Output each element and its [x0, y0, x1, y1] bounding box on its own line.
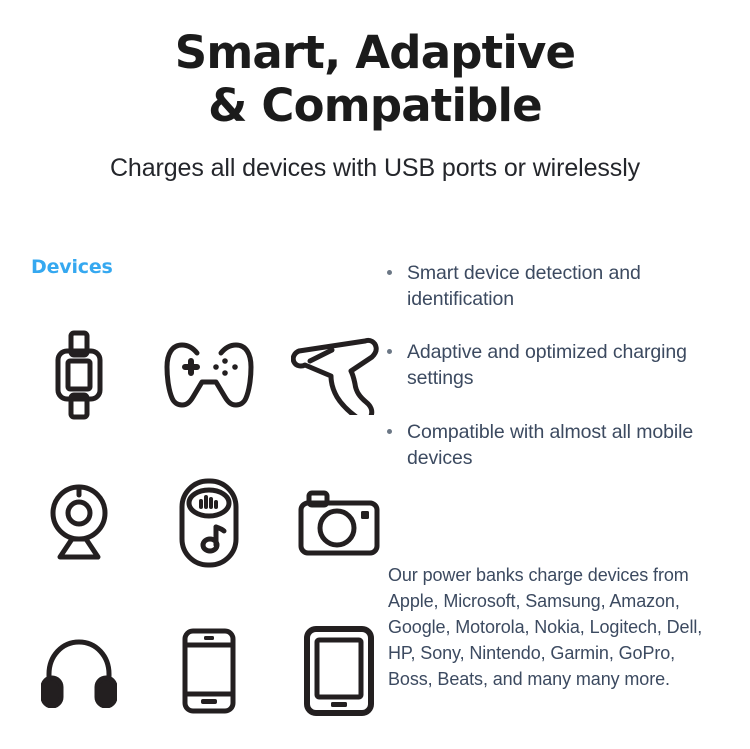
camera-icon [297, 489, 381, 557]
list-item-label: Smart device detection and identificatio… [407, 262, 641, 310]
webcam-icon [44, 483, 114, 563]
game-controller-icon [163, 341, 255, 409]
list-item: Smart device detection and identificatio… [383, 261, 713, 312]
bullet-dot-icon [387, 429, 392, 434]
page-subtitle: Charges all devices with USB ports or wi… [0, 132, 750, 183]
list-item-label: Compatible with almost all mobile device… [407, 421, 693, 469]
list-item: Compatible with almost all mobile device… [383, 420, 713, 471]
device-icon-cell [14, 301, 144, 449]
infographic-page: Smart, Adaptive & Compatible Charges all… [0, 0, 750, 749]
device-icon-cell [144, 597, 274, 745]
smartwatch-icon [51, 329, 107, 421]
tablet-icon [303, 625, 375, 717]
bullet-dot-icon [387, 349, 392, 354]
header-section: Smart, Adaptive & Compatible Charges all… [0, 0, 750, 183]
smart-speaker-icon [177, 477, 241, 569]
device-icon-cell [144, 449, 274, 597]
devices-column: Devices [0, 246, 375, 749]
headline-line-1: Smart, Adaptive [40, 26, 710, 79]
device-icon-cell [14, 449, 144, 597]
smartphone-icon [181, 628, 237, 714]
features-column: Smart device detection and identificatio… [378, 246, 750, 749]
page-title: Smart, Adaptive & Compatible [0, 26, 750, 132]
body-columns: Devices [0, 246, 750, 749]
barcode-scanner-icon [291, 335, 387, 415]
list-item: Adaptive and optimized charging settings [383, 340, 713, 391]
headline-line-2: & Compatible [40, 79, 710, 132]
list-item-label: Adaptive and optimized charging settings [407, 341, 687, 389]
device-icon-grid [14, 301, 374, 745]
feature-bullet-list: Smart device detection and identificatio… [383, 261, 713, 471]
device-icon-cell [14, 597, 144, 745]
bullet-dot-icon [387, 270, 392, 275]
devices-heading: Devices [31, 256, 113, 278]
device-icon-cell [144, 301, 274, 449]
headphones-icon [41, 634, 117, 708]
brand-compatibility-paragraph: Our power banks charge devices from Appl… [388, 562, 718, 692]
